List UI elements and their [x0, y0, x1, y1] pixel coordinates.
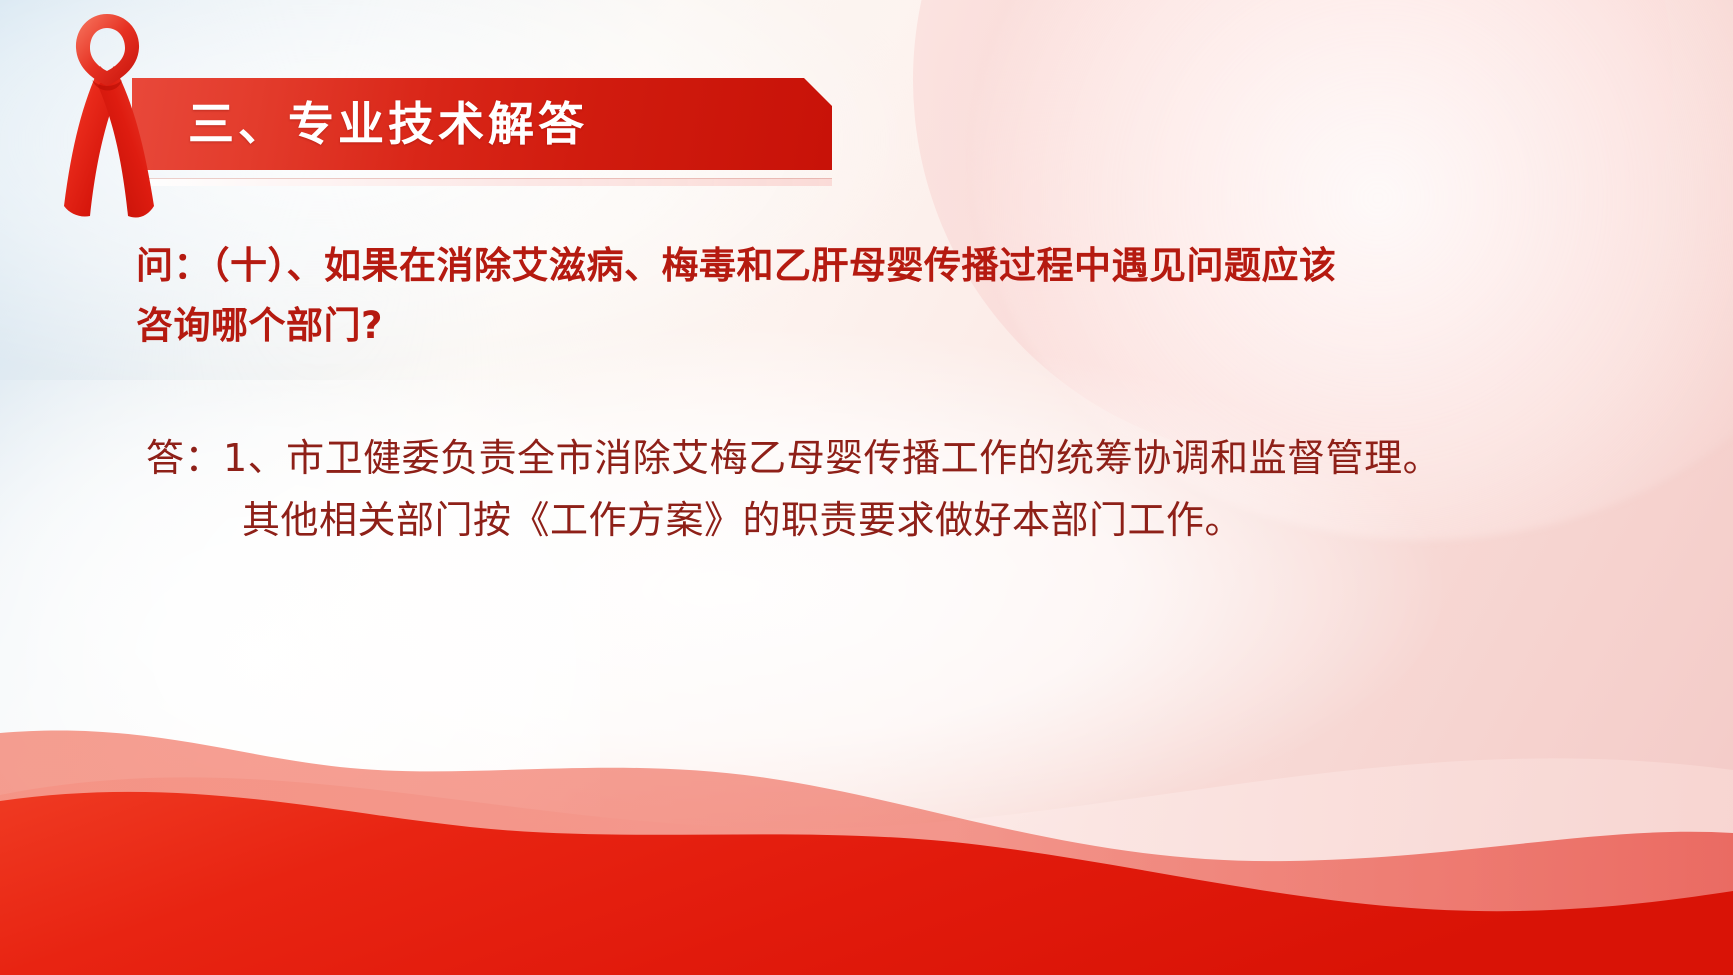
- background-wave-red: [0, 715, 1733, 975]
- section-title-banner: 三、专业技术解答: [132, 78, 832, 170]
- slide-canvas: 三、专业技术解答 问：（十）、如果在消除艾滋病、梅毒和乙肝母婴传播过程中遇见问题…: [0, 0, 1733, 975]
- question-line-1: 问：（十）、如果在消除艾滋病、梅毒和乙肝母婴传播过程中遇见问题应该: [136, 236, 1616, 296]
- question-block: 问：（十）、如果在消除艾滋病、梅毒和乙肝母婴传播过程中遇见问题应该 咨询哪个部门…: [136, 236, 1616, 356]
- answer-line-2: 其他相关部门按《工作方案》的职责要求做好本部门工作。: [146, 490, 1666, 552]
- section-title-text: 三、专业技术解答: [188, 101, 588, 147]
- question-line-2: 咨询哪个部门?: [136, 296, 1616, 356]
- section-title-underline: [132, 178, 832, 186]
- aids-awareness-ribbon-icon: [48, 8, 168, 228]
- answer-block: 答：1、市卫健委负责全市消除艾梅乙母婴传播工作的统筹协调和监督管理。 其他相关部…: [146, 428, 1666, 551]
- answer-line-1: 答：1、市卫健委负责全市消除艾梅乙母婴传播工作的统筹协调和监督管理。: [146, 428, 1666, 490]
